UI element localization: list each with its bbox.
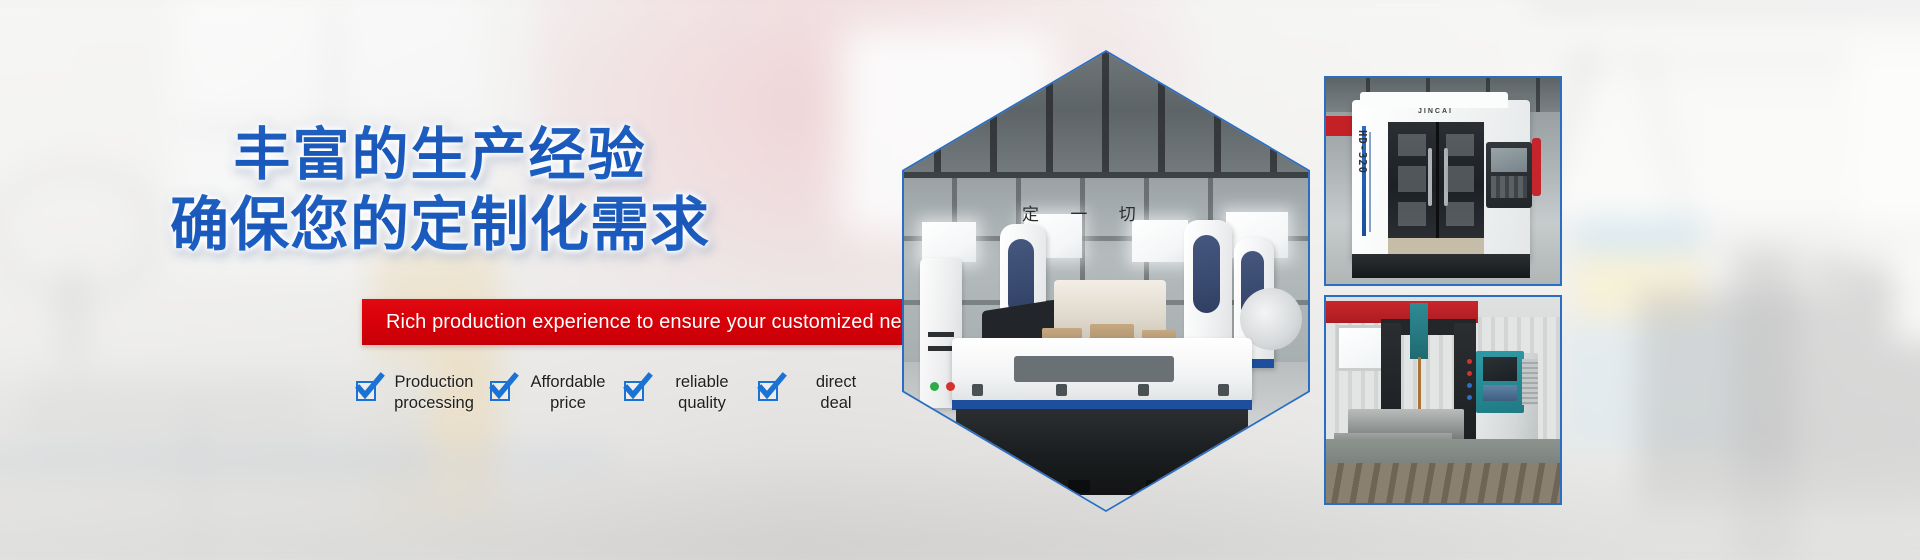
feature-item-reliable-quality: reliable quality (624, 372, 758, 414)
thumbnail-model-label: HD-320 (1356, 130, 1368, 174)
edm-indicator-blue-2 (1467, 395, 1472, 400)
check-box-icon (356, 381, 376, 401)
check-box-icon (624, 381, 644, 401)
check-box-icon (758, 381, 778, 401)
feature-item-production-processing: Production processing (356, 372, 490, 414)
feature-label: direct deal (788, 372, 884, 414)
edm-indicator-red-1 (1467, 359, 1472, 364)
hero-image-hexagon: 定 一 切 (902, 50, 1310, 512)
edm-indicator-red-2 (1467, 371, 1472, 376)
thumbnail-horizontal-machining-center[interactable]: JINCAI HD-320 (1324, 76, 1562, 286)
feature-label-line-2: price (550, 394, 586, 412)
wall-sign-text: 定 一 切 (1022, 200, 1164, 226)
promotional-banner: 丰富的生产经验 确保您的定制化需求 Rich production experi… (0, 0, 1920, 560)
feature-label-line-1: Affordable (531, 373, 606, 391)
subtitle-text: Rich production experience to ensure you… (362, 311, 934, 334)
edm-indicator-blue-1 (1467, 383, 1472, 388)
feature-label-line-1: Production (395, 373, 474, 391)
feature-label-line-2: deal (820, 394, 851, 412)
feature-label-line-2: quality (678, 394, 726, 412)
feature-item-direct-deal: direct deal (758, 372, 892, 414)
feature-label-line-1: direct (816, 373, 856, 391)
machine-indicator-green (930, 382, 939, 391)
feature-item-affordable-price: Affordable price (490, 372, 624, 414)
subtitle-red-bar: Rich production experience to ensure you… (362, 299, 902, 345)
machine-indicator-red (946, 382, 955, 391)
feature-list: Production processing Affordable price r… (356, 372, 892, 414)
feature-label: Affordable price (520, 372, 616, 414)
feature-label-line-2: processing (394, 394, 474, 412)
check-box-icon (490, 381, 510, 401)
thumbnail-gallery: JINCAI HD-320 (1324, 76, 1562, 505)
cnc-machining-center-photo: 定 一 切 (904, 52, 1308, 510)
thumbnail-wire-edm-machine[interactable] (1324, 295, 1562, 505)
feature-label-line-1: reliable (675, 373, 728, 391)
thumbnail-brand-label: JINCAI (1418, 108, 1453, 115)
feature-label: reliable quality (654, 372, 750, 414)
feature-label: Production processing (386, 372, 482, 414)
